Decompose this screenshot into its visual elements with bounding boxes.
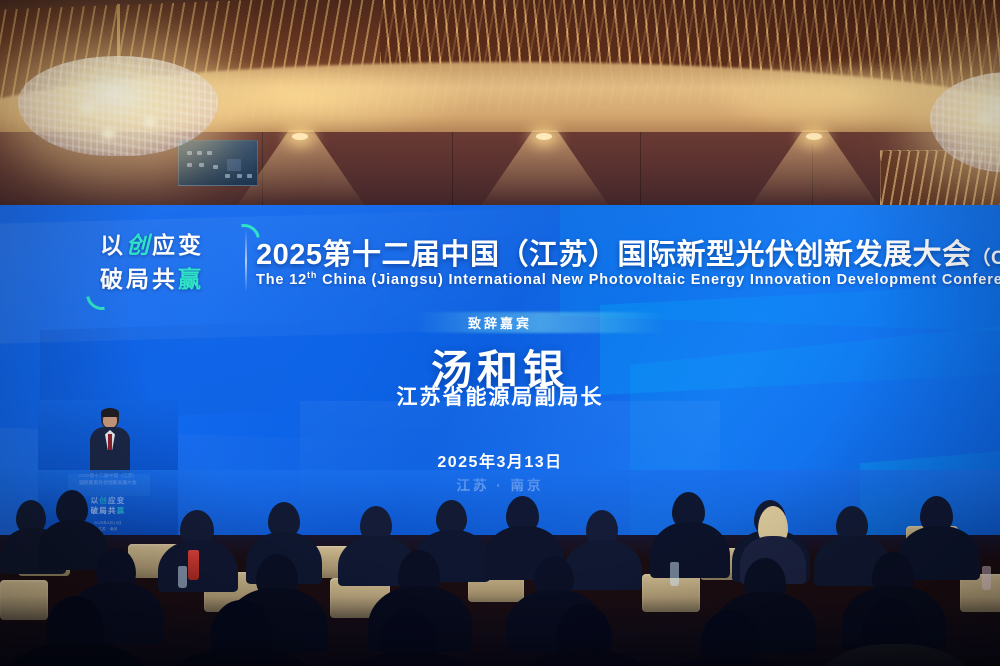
speaker-hair — [101, 408, 119, 417]
audience-shoulders — [650, 522, 730, 578]
title-cn-tag: （CIPID） — [972, 248, 1000, 269]
title-en-post: China (Jiangsu) International New Photov… — [317, 272, 1000, 288]
chandelier-crystals — [18, 56, 218, 156]
spotlight-source — [536, 133, 552, 140]
chandelier-hotspot — [978, 112, 992, 124]
wall-seam — [640, 132, 641, 215]
wall-seam — [452, 132, 453, 215]
slogan-line-2: 破局共赢 — [100, 262, 250, 296]
chandelier-right — [930, 20, 1000, 160]
conference-slogan-logo: 以创应变 破局共赢 — [100, 228, 250, 300]
slogan-2-accent: 赢 — [178, 266, 204, 292]
title-cn-main: 2025第十二届中国（江苏）国际新型光伏创新发展大会 — [256, 239, 972, 271]
conference-title-cn: 2025第十二届中国（江苏）国际新型光伏创新发展大会（CIPID） — [256, 231, 1000, 273]
foreground-shadow — [0, 596, 1000, 666]
spotlight-source — [292, 133, 308, 140]
chandelier-hotspot — [122, 92, 136, 104]
chandelier-hotspot — [144, 116, 156, 127]
ceiling — [0, 0, 1000, 215]
slogan-1-prefix: 以 — [100, 232, 126, 258]
conference-title-en: The 12th China (Jiangsu) International N… — [256, 270, 1000, 288]
audience-shoulders — [564, 540, 642, 590]
title-en-ordinal: th — [307, 270, 317, 280]
slogan-1-suffix: 应变 — [152, 232, 204, 258]
audience-area — [0, 470, 1000, 666]
speaker-tie — [108, 434, 112, 450]
chandelier-chain — [117, 4, 120, 64]
chandelier-hotspot — [102, 128, 115, 139]
title-en-pre: The 12 — [256, 272, 307, 288]
spotlight-source — [806, 133, 822, 140]
red-thermos — [188, 550, 199, 580]
chandelier-left — [18, 4, 218, 164]
logo-divider — [245, 230, 247, 292]
water-bottle — [178, 566, 187, 588]
conference-hall-photo: 以创应变 破局共赢 2025第十二届中国（江苏）国际新型光伏创新发展大会（CIP… — [0, 0, 1000, 666]
slogan-1-accent: 创 — [126, 232, 152, 258]
water-bottle — [670, 562, 679, 586]
chandelier-hotspot — [80, 100, 96, 114]
speaker-role-label: 致辞嘉宾 — [0, 313, 1000, 332]
water-bottle — [982, 566, 991, 590]
